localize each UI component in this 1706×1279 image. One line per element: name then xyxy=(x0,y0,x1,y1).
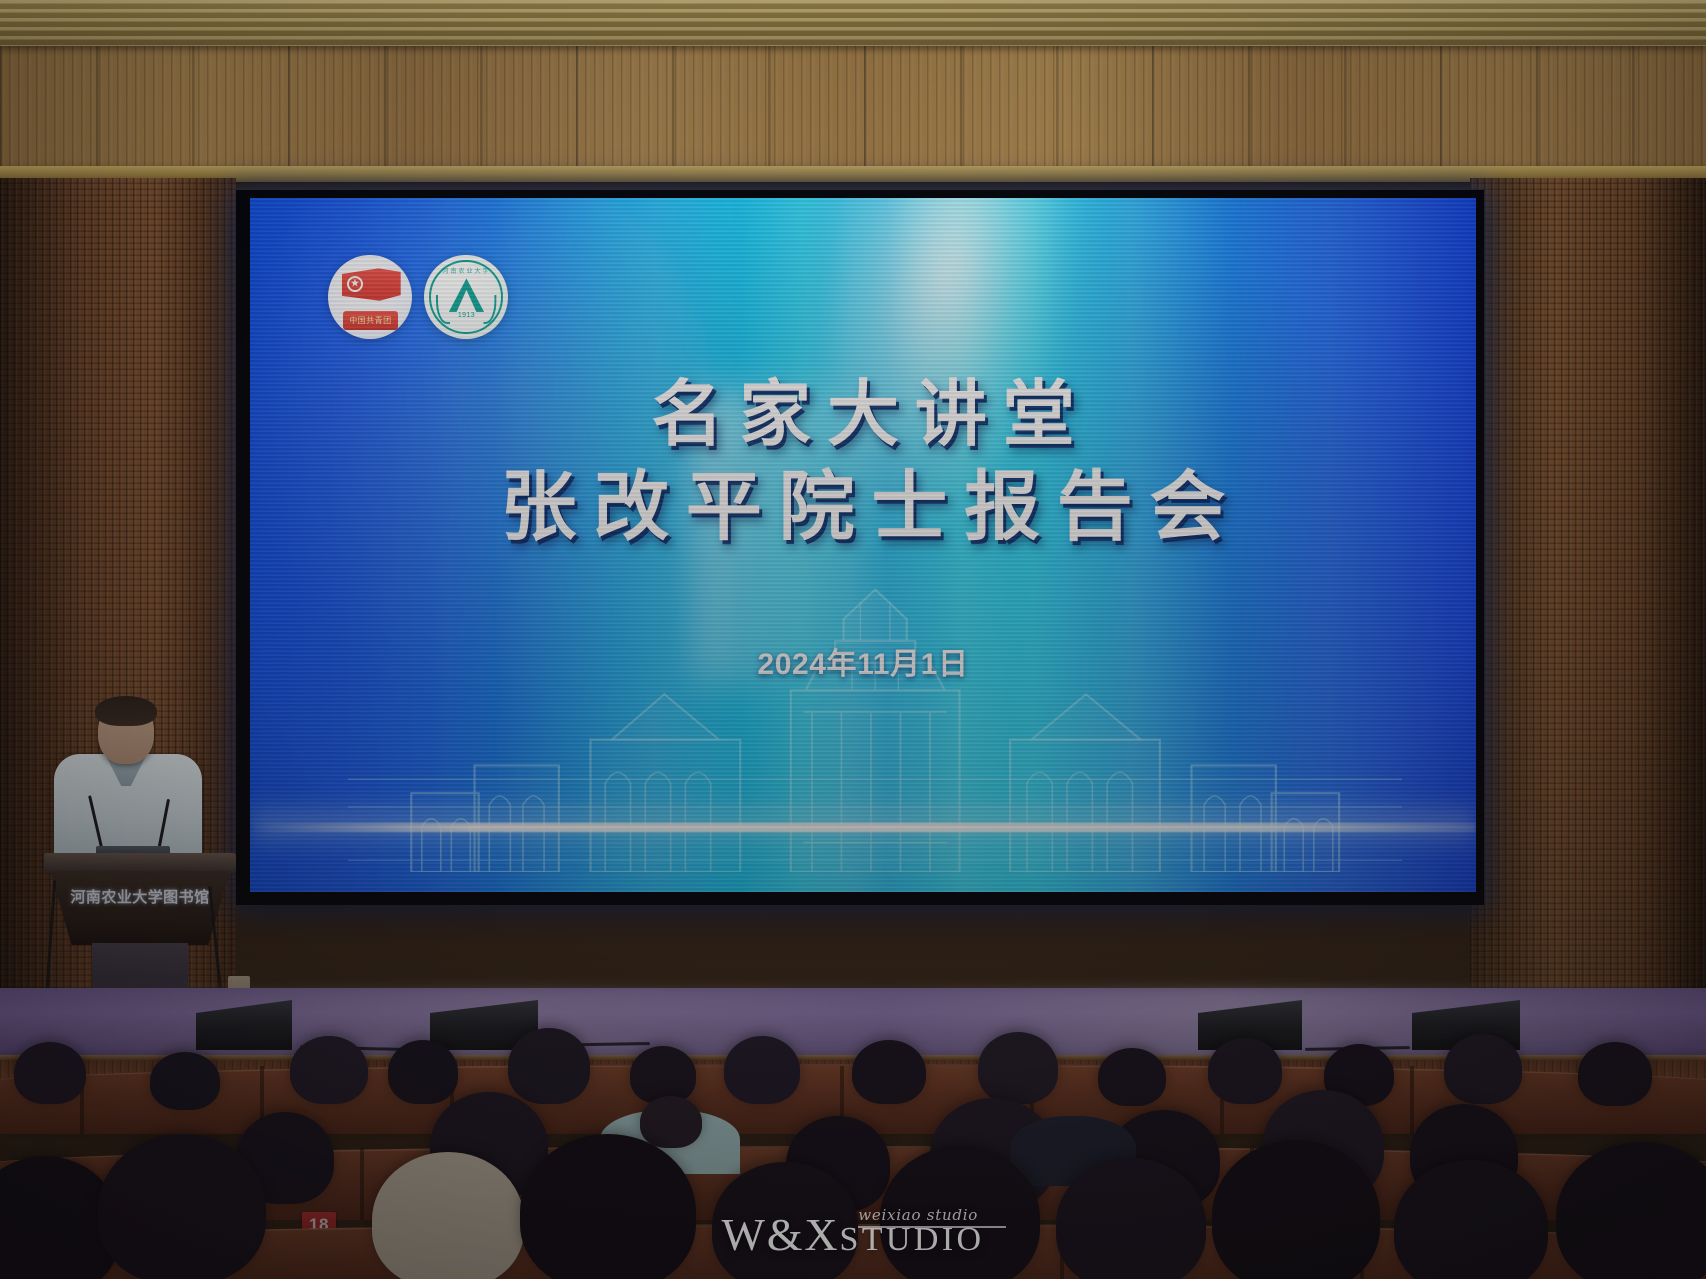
lecture-hall-photo: 中国共青团 河南农业大学 1913 名家大讲堂 张改平院士报告会 2024年11… xyxy=(0,0,1706,1279)
audience-shadow-overlay xyxy=(0,0,1706,1279)
